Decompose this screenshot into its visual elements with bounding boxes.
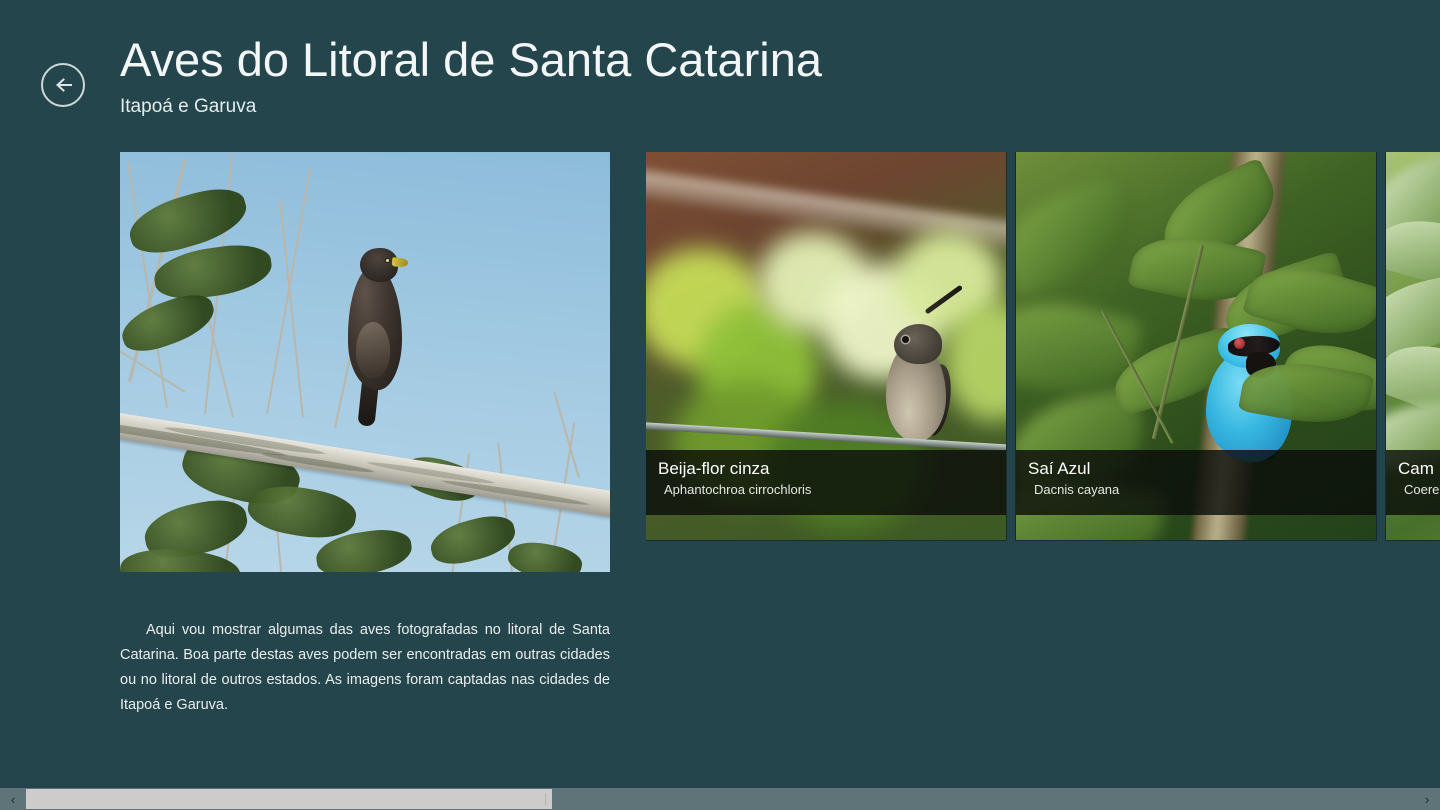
tile-item[interactable]: Saí Azul Dacnis cayana: [1016, 152, 1376, 540]
dacnis-eye: [1234, 338, 1245, 349]
tile-subtitle: Aphantochroa cirrochloris: [658, 480, 994, 500]
tile-item[interactable]: Beija-flor cinza Aphantochroa cirrochlor…: [646, 152, 1006, 540]
page-header: Aves do Litoral de Santa Catarina Itapoá…: [0, 0, 1440, 150]
hummingbird-eye: [902, 336, 909, 343]
arrow-left-circle-icon: [51, 73, 75, 97]
tile-caption: Cam Coere: [1386, 450, 1440, 515]
tile-subtitle: Dacnis cayana: [1028, 480, 1364, 500]
hawk-bird: [342, 244, 414, 424]
tile-caption: Saí Azul Dacnis cayana: [1016, 450, 1376, 515]
scrollbar-thumb[interactable]: [26, 789, 552, 809]
tile-subtitle: Coere: [1398, 480, 1440, 500]
horizontal-scrollbar[interactable]: ‹ ›: [0, 788, 1440, 810]
tile-caption: Beija-flor cinza Aphantochroa cirrochlor…: [646, 450, 1006, 515]
tile-strip[interactable]: Beija-flor cinza Aphantochroa cirrochlor…: [646, 152, 1440, 542]
scrollbar-track[interactable]: [26, 788, 1414, 810]
hawk-beak: [392, 257, 409, 268]
hawk-belly: [356, 322, 390, 378]
hummingbird-head: [894, 324, 942, 364]
tile-title: Saí Azul: [1028, 458, 1364, 480]
tile-item[interactable]: Cam Coere: [1386, 152, 1440, 540]
description-text: Aqui vou mostrar algumas das aves fotogr…: [120, 618, 610, 718]
back-button[interactable]: [41, 63, 85, 107]
hawk-eye: [384, 257, 391, 264]
app-root: Aves do Litoral de Santa Catarina Itapoá…: [0, 0, 1440, 810]
page-title: Aves do Litoral de Santa Catarina: [120, 32, 822, 88]
page-subtitle: Itapoá e Garuva: [120, 94, 822, 120]
tile-title: Cam: [1398, 458, 1440, 480]
tile-title: Beija-flor cinza: [658, 458, 994, 480]
hero-photo-hawk[interactable]: [120, 152, 610, 572]
title-block: Aves do Litoral de Santa Catarina Itapoá…: [120, 32, 822, 120]
scroll-right-arrow-icon[interactable]: ›: [1414, 788, 1440, 810]
hummingbird-bird: [874, 302, 984, 447]
scroll-left-arrow-icon[interactable]: ‹: [0, 788, 26, 810]
